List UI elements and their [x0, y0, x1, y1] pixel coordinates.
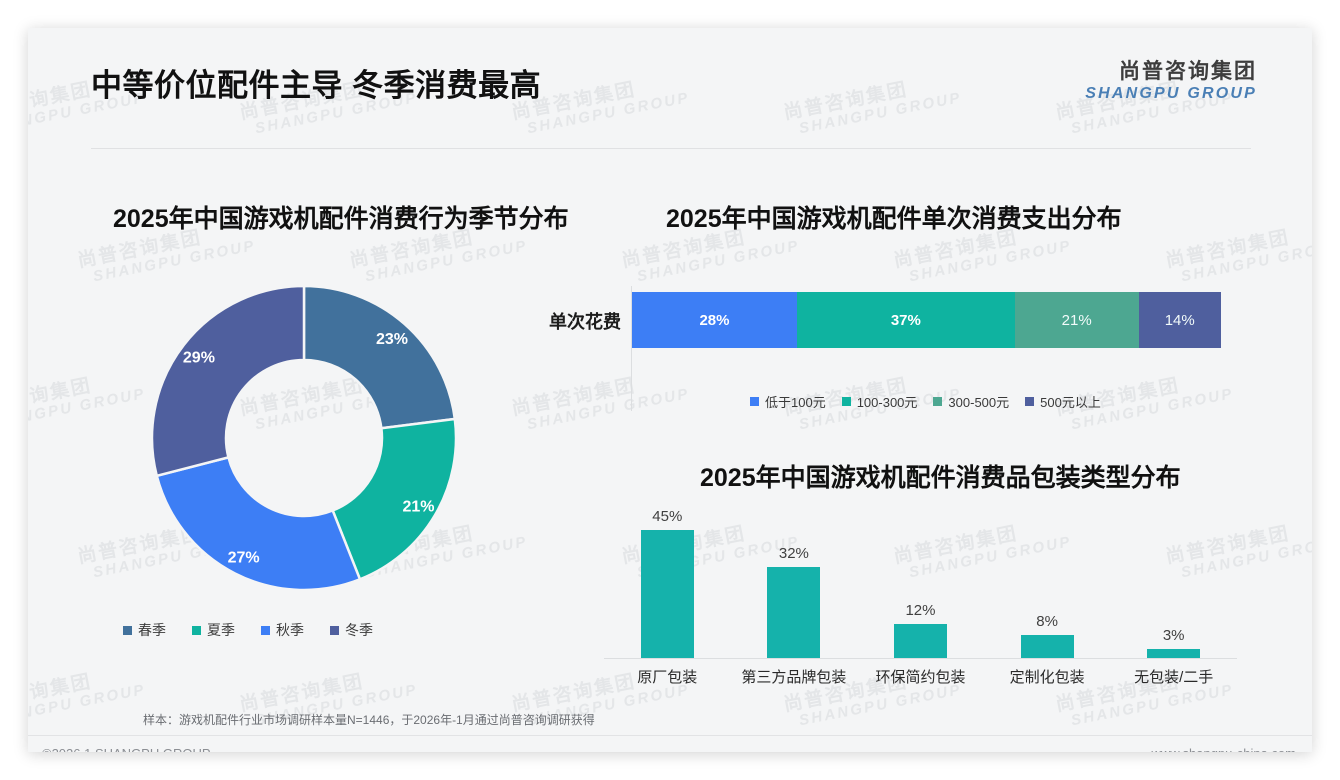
- column-chart-category-axis: 原厂包装第三方品牌包装环保简约包装定制化包装无包装/二手: [604, 666, 1237, 687]
- legend-swatch-icon: [842, 397, 851, 406]
- legend-item-label: 低于100元: [765, 392, 826, 411]
- column-chart-title: 2025年中国游戏机配件消费品包装类型分布: [700, 458, 1181, 494]
- column-chart-bar[interactable]: [641, 530, 694, 658]
- legend-swatch-icon: [192, 626, 201, 635]
- column-chart-category-label: 定制化包装: [984, 666, 1111, 687]
- column-chart: 45%32%12%8%3% 原厂包装第三方品牌包装环保简约包装定制化包装无包装/…: [588, 506, 1253, 696]
- column-chart-value-label: 32%: [779, 545, 809, 562]
- stacked-bar-category-label: 单次花费: [523, 308, 621, 334]
- column-chart-value-label: 45%: [652, 508, 682, 525]
- legend-item[interactable]: 夏季: [192, 620, 235, 640]
- legend-swatch-icon: [261, 626, 270, 635]
- legend-item-label: 春季: [138, 620, 166, 640]
- donut-segment[interactable]: [157, 457, 360, 590]
- column-chart-category-label: 无包装/二手: [1110, 666, 1237, 687]
- donut-segment[interactable]: [304, 286, 455, 428]
- column-chart-bar[interactable]: [1147, 649, 1200, 658]
- donut-chart-title: 2025年中国游戏机配件消费行为季节分布: [113, 199, 569, 235]
- column-chart-bar[interactable]: [894, 624, 947, 658]
- stacked-bar-segment[interactable]: 21%: [1015, 292, 1139, 348]
- sample-footnote: 样本：游戏机配件行业市场调研样本量N=1446，于2026年-1月通过尚普咨询调…: [143, 711, 595, 728]
- column-chart-bar-group: 45%: [604, 506, 731, 658]
- donut-segment-label: 29%: [183, 349, 215, 366]
- slide-header: 中等价位配件主导 冬季消费最高 尚普咨询集团 SHANGPU GROUP: [28, 28, 1312, 122]
- legend-item[interactable]: 100-300元: [842, 392, 918, 411]
- stacked-bar-segment[interactable]: 37%: [797, 292, 1015, 348]
- stacked-bar-track: 28%37%21%14%: [632, 292, 1221, 348]
- stacked-bar-segment[interactable]: 14%: [1139, 292, 1221, 348]
- donut-segment[interactable]: [152, 286, 304, 476]
- column-chart-bar-group: 8%: [984, 506, 1111, 658]
- donut-segment-label: 23%: [376, 331, 408, 348]
- column-chart-category-label: 第三方品牌包装: [731, 666, 858, 687]
- donut-chart: 23%21%27%29%: [91, 263, 561, 663]
- legend-item[interactable]: 低于100元: [750, 392, 826, 411]
- column-chart-value-label: 8%: [1036, 613, 1058, 630]
- slide-canvas: 尚普咨询集团SHANGPU GROUP尚普咨询集团SHANGPU GROUP尚普…: [28, 28, 1312, 752]
- legend-swatch-icon: [750, 397, 759, 406]
- column-chart-category-label: 原厂包装: [604, 666, 731, 687]
- column-chart-bar[interactable]: [767, 567, 820, 658]
- legend-item-label: 秋季: [276, 620, 304, 640]
- legend-swatch-icon: [1025, 397, 1034, 406]
- legend-item-label: 夏季: [207, 620, 235, 640]
- column-chart-value-label: 12%: [905, 602, 935, 619]
- legend-swatch-icon: [933, 397, 942, 406]
- donut-chart-legend: 春季夏季秋季冬季: [123, 620, 399, 640]
- footer-divider: [28, 735, 1312, 736]
- donut-chart-svg: 23%21%27%29%: [139, 273, 469, 603]
- column-chart-bar-group: 3%: [1110, 506, 1237, 658]
- column-chart-plot: 45%32%12%8%3%: [604, 506, 1237, 658]
- legend-item-label: 500元以上: [1040, 392, 1101, 411]
- watermark-text: 尚普咨询集团SHANGPU GROUP: [28, 661, 147, 732]
- column-chart-baseline: [604, 658, 1237, 659]
- brand-logo: 尚普咨询集团 SHANGPU GROUP: [1085, 60, 1257, 103]
- logo-english-text: SHANGPU GROUP: [1085, 84, 1257, 103]
- header-divider: [91, 148, 1251, 149]
- legend-item[interactable]: 春季: [123, 620, 166, 640]
- legend-swatch-icon: [123, 626, 132, 635]
- legend-swatch-icon: [330, 626, 339, 635]
- column-chart-bar-group: 32%: [731, 506, 858, 658]
- stacked-bar-legend: 低于100元100-300元300-500元500元以上: [750, 392, 1117, 411]
- column-chart-bar[interactable]: [1021, 635, 1074, 658]
- donut-segment-label: 21%: [402, 499, 434, 516]
- logo-chinese-text: 尚普咨询集团: [1085, 60, 1257, 84]
- legend-item[interactable]: 秋季: [261, 620, 304, 640]
- footer-website: www.shangpu-china.com: [1151, 746, 1296, 752]
- legend-item-label: 冬季: [345, 620, 373, 640]
- legend-item-label: 300-500元: [948, 392, 1009, 411]
- column-chart-bar-group: 12%: [857, 506, 984, 658]
- legend-item-label: 100-300元: [857, 392, 918, 411]
- legend-item[interactable]: 冬季: [330, 620, 373, 640]
- legend-item[interactable]: 300-500元: [933, 392, 1009, 411]
- legend-item[interactable]: 500元以上: [1025, 392, 1101, 411]
- column-chart-value-label: 3%: [1163, 627, 1185, 644]
- column-chart-category-label: 环保简约包装: [857, 666, 984, 687]
- donut-segment-label: 27%: [228, 550, 260, 567]
- stacked-bar-title: 2025年中国游戏机配件单次消费支出分布: [666, 199, 1122, 235]
- stacked-bar-segment[interactable]: 28%: [632, 292, 797, 348]
- footer-copyright: ©2026.1 SHANGPU GROUP: [42, 746, 211, 752]
- page-title: 中等价位配件主导 冬季消费最高: [91, 60, 541, 105]
